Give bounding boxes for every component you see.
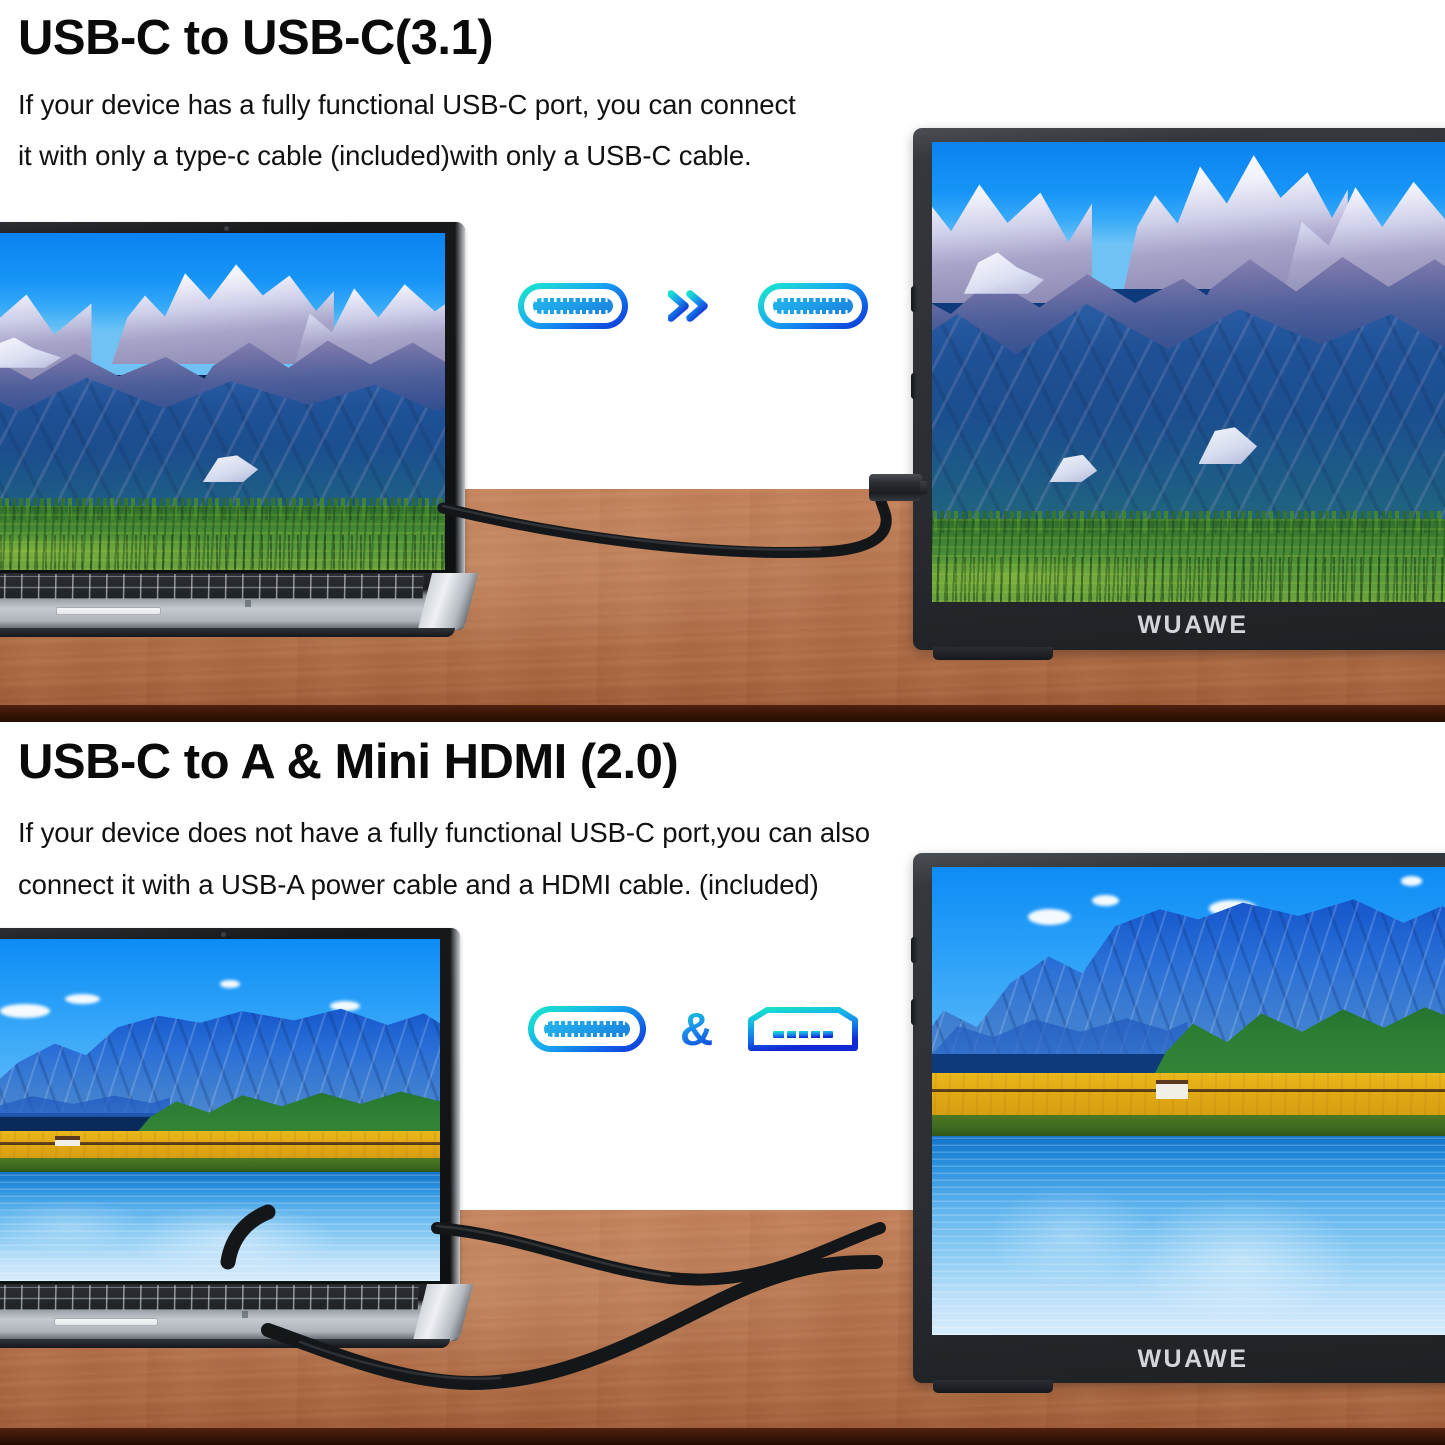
usb-c-plug-monitor-1: [869, 474, 922, 501]
laptop-1-foot: [0, 628, 455, 637]
laptop-1-trackpad: [56, 607, 161, 615]
laptop-2-base: [0, 1284, 460, 1341]
section-2-body-line-2: connect it with a USB-A power cable and …: [18, 871, 870, 899]
monitor-2-screen: [932, 867, 1445, 1335]
connector-badges-2: &: [528, 1006, 859, 1052]
laptop-1-base: [0, 573, 465, 630]
laptop-1-webcam-icon: [224, 226, 229, 231]
monitor-2-brand-label: WUAWE: [913, 1345, 1445, 1374]
laptop-1-screen: [0, 233, 445, 570]
laptop-2-trackpad: [54, 1318, 158, 1326]
section-2-body-line-1: If your device does not have a fully fun…: [18, 819, 870, 847]
laptop-1: [0, 222, 465, 634]
hdmi-connector-icon: [747, 1006, 859, 1052]
laptop-2: [0, 928, 460, 1348]
monitor-2-bezel: WUAWE: [913, 853, 1445, 1383]
double-chevron-icon: [668, 286, 718, 326]
monitor-1-brand-label: WUAWE: [913, 611, 1445, 640]
section-usb-c-to-a-and-hdmi: USB-C to A & Mini HDMI (2.0) If your dev…: [0, 722, 1445, 1445]
laptop-2-webcam-icon: [221, 932, 226, 937]
section-2-heading: USB-C to A & Mini HDMI (2.0): [18, 736, 870, 789]
monitor-2-wallpaper-lake: [932, 867, 1445, 1335]
section-1-text-block: USB-C to USB-C(3.1) If your device has a…: [18, 12, 796, 170]
usb-c-connector-icon: [528, 1006, 646, 1052]
laptop-1-keyboard: [0, 574, 423, 599]
section-usb-c-to-usb-c: USB-C to USB-C(3.1) If your device has a…: [0, 0, 1445, 722]
usb-c-connector-icon-right: [758, 283, 868, 329]
portable-monitor-2: WUAWE: [913, 853, 1445, 1383]
monitor-2-stand: [933, 1380, 1053, 1393]
monitor-1-stand: [933, 647, 1053, 660]
desk-edge-2: [0, 1428, 1445, 1445]
monitor-1-screen: [932, 142, 1445, 602]
laptop-2-keyboard: [0, 1285, 419, 1310]
laptop-2-screen: [0, 939, 440, 1281]
desk-edge-1: [0, 705, 1445, 722]
section-1-heading: USB-C to USB-C(3.1): [18, 12, 796, 65]
ampersand-label: &: [680, 1006, 713, 1052]
laptop-1-keyboard-deck: [0, 573, 465, 630]
connector-badges-1: [518, 283, 868, 329]
monitor-1-button-2[interactable]: [911, 373, 918, 399]
monitor-2-button-2[interactable]: [911, 999, 918, 1025]
section-1-body-line-1: If your device has a fully functional US…: [18, 91, 796, 119]
laptop-2-wallpaper-lake: [0, 939, 440, 1281]
laptop-1-lid: [0, 222, 465, 577]
monitor-1-button-1[interactable]: [911, 286, 918, 312]
section-2-text-block: USB-C to A & Mini HDMI (2.0) If your dev…: [18, 736, 870, 899]
laptop-1-deck-notch-right: [245, 600, 251, 607]
product-infographic: USB-C to USB-C(3.1) If your device has a…: [0, 0, 1445, 1445]
laptop-2-foot: [0, 1339, 450, 1348]
section-1-body-line-2: it with only a type-c cable (included)wi…: [18, 142, 796, 170]
laptop-2-deck-notch-right: [242, 1311, 248, 1318]
portable-monitor-1: WUAWE: [913, 128, 1445, 650]
monitor-1-bezel: WUAWE: [913, 128, 1445, 650]
laptop-2-keyboard-deck: [0, 1284, 460, 1341]
usb-c-connector-icon-left: [518, 283, 628, 329]
laptop-1-wallpaper-mountain: [0, 233, 445, 570]
monitor-2-button-1[interactable]: [911, 937, 918, 963]
monitor-1-wallpaper-mountain: [932, 142, 1445, 602]
laptop-2-lid: [0, 928, 460, 1288]
